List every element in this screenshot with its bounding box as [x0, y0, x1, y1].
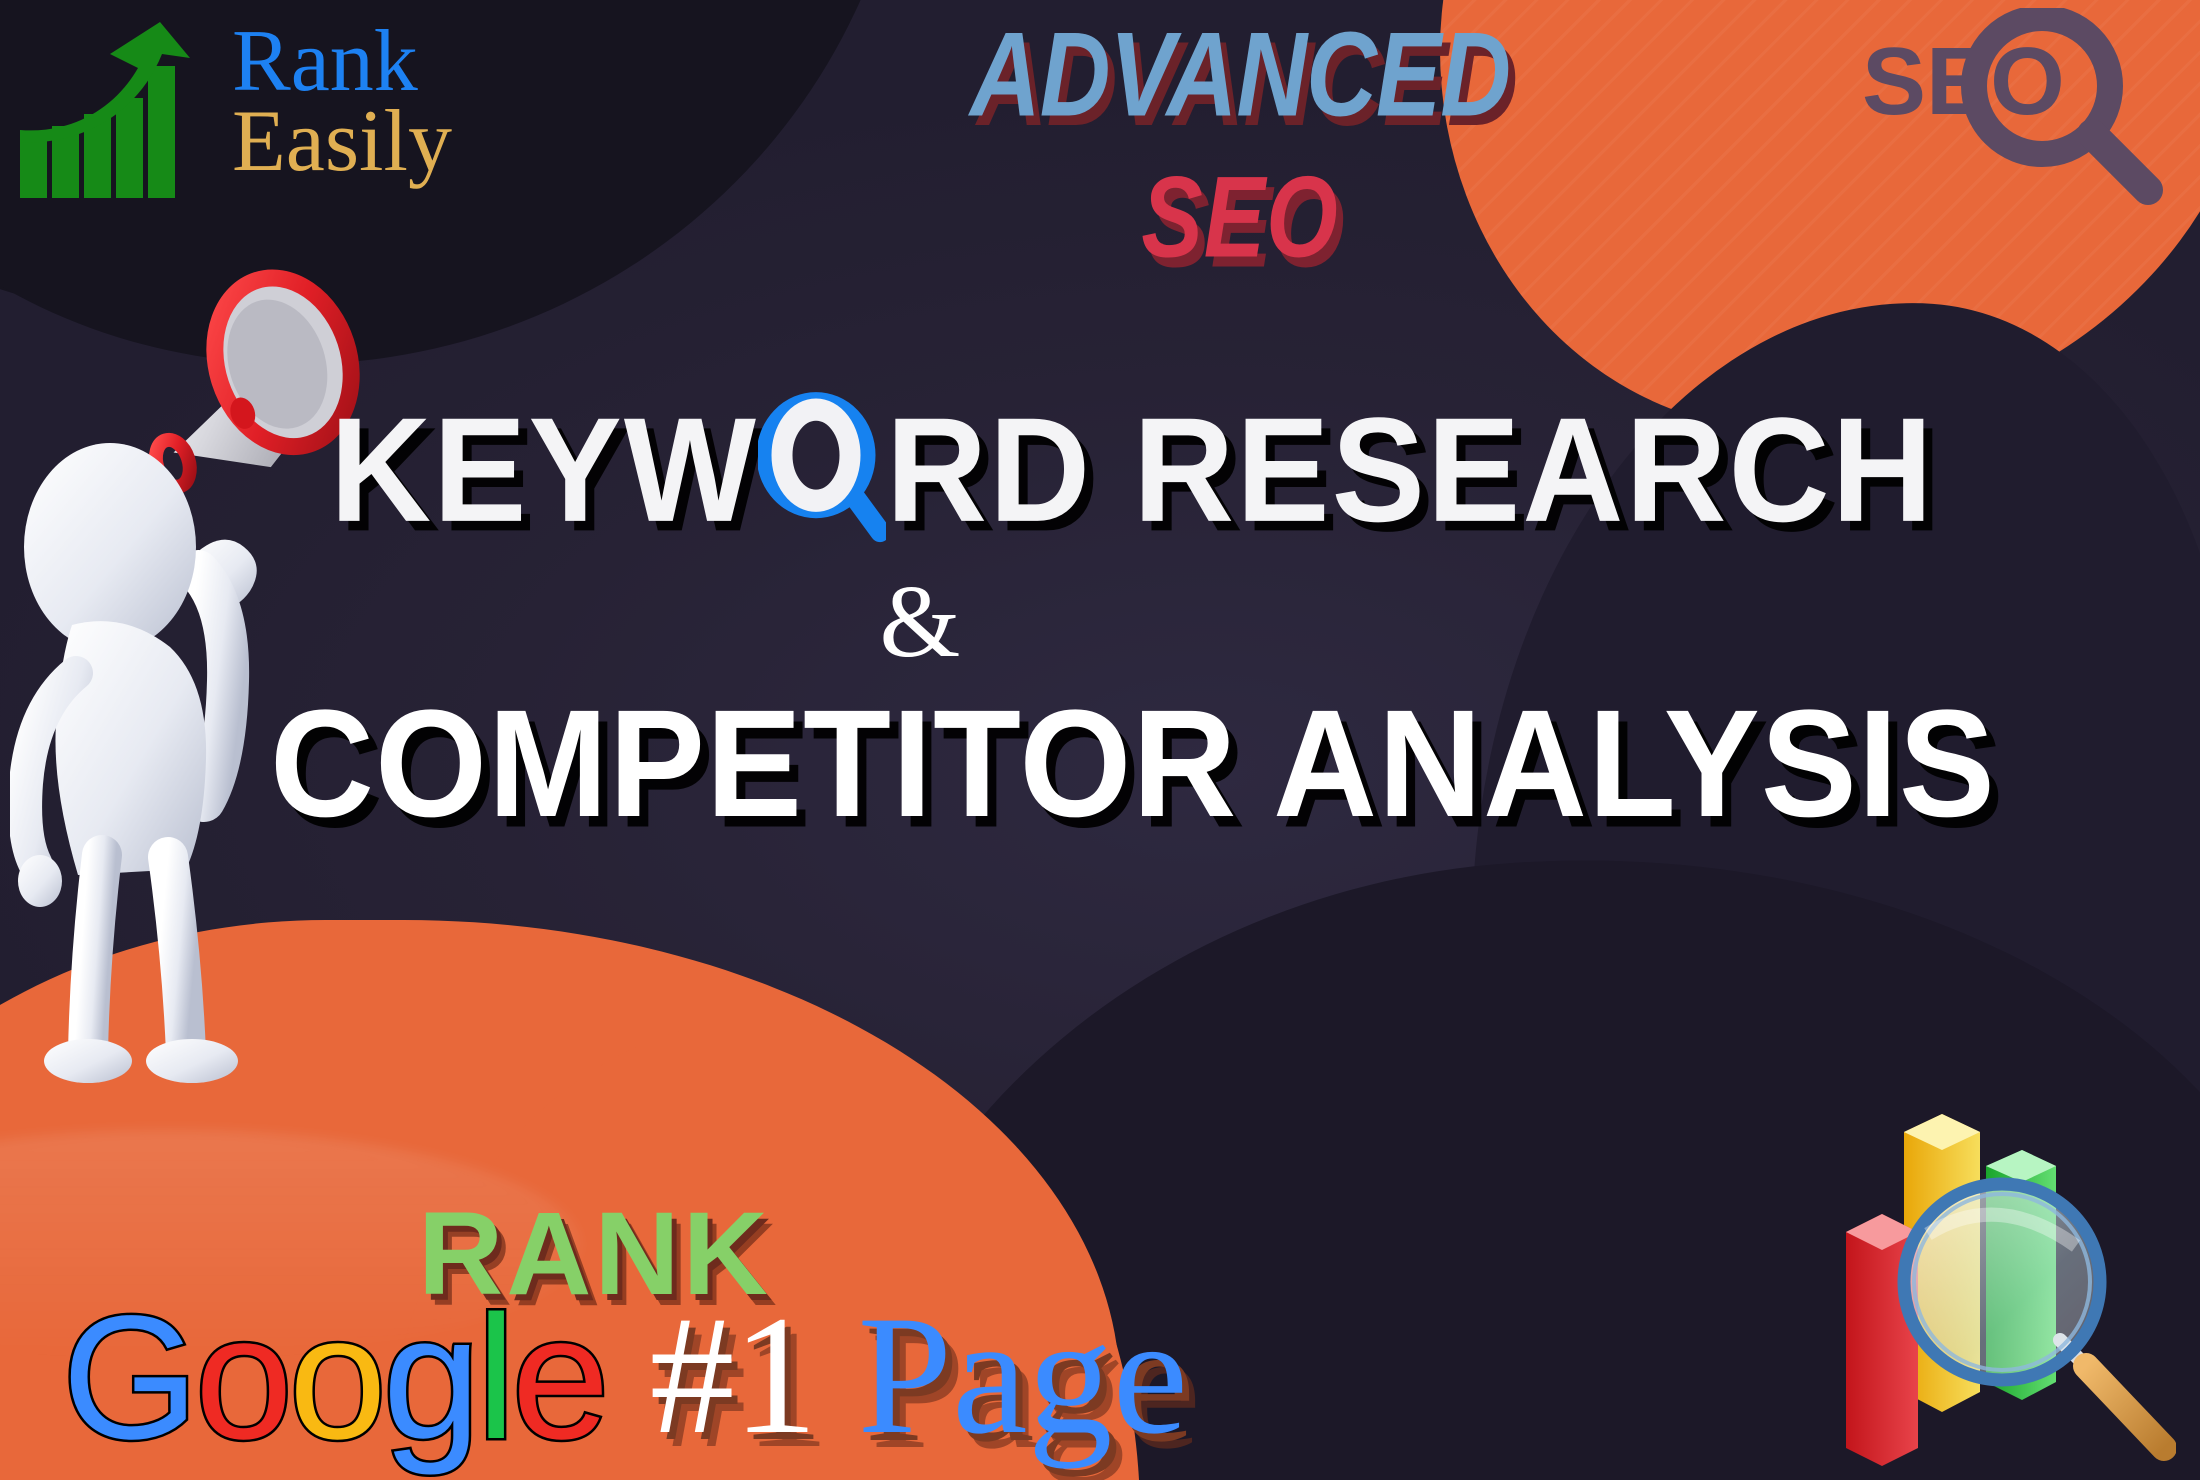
- google-letter-o2: o: [289, 1280, 383, 1476]
- google-wordmark: Google: [62, 1290, 606, 1466]
- headline-line-1: KEYW RD RESEARCH: [330, 396, 2120, 544]
- headline-line-2: COMPETITOR ANALYSIS: [270, 688, 2060, 841]
- seo-badge-text: SEO: [1862, 28, 2065, 135]
- headline-ampersand: &: [330, 570, 1510, 674]
- magnifier-o-icon: [758, 396, 886, 544]
- hash-one-label: #1: [650, 1290, 816, 1460]
- headline-line1-part-a: KEYW: [330, 396, 758, 544]
- google-letter-o1: o: [195, 1280, 289, 1476]
- brand-logo-text: Rank Easily: [232, 20, 452, 183]
- google-letter-l: l: [477, 1280, 512, 1476]
- google-letter-g2: g: [383, 1280, 477, 1476]
- growth-arrow-bars-icon: [10, 6, 240, 206]
- brand-logo-line1: Rank: [232, 20, 452, 104]
- advanced-seo-badge: ADVANCED SEO: [920, 14, 1560, 252]
- headline-line1-part-b: RD RESEARCH: [886, 396, 1935, 544]
- brand-logo-line2: Easily: [232, 100, 452, 184]
- main-headline: KEYW RD RESEARCH & COMPETITOR ANALYSIS: [330, 400, 2120, 836]
- 3d-bar-chart-magnifier-icon: [1846, 1092, 2176, 1472]
- brand-logo[interactable]: Rank Easily: [10, 6, 540, 216]
- seo-service-banner: Rank Easily ADVANCED SEO SEO: [0, 0, 2200, 1480]
- advanced-label: ADVANCED: [920, 14, 1560, 134]
- google-letter-e: e: [512, 1280, 606, 1476]
- seo-magnifier-badge: SEO: [1836, 8, 2166, 208]
- google-letter-g1: G: [62, 1280, 195, 1476]
- page-label: Page: [858, 1290, 1188, 1460]
- seo-label: SEO: [920, 160, 1560, 275]
- google-first-page-line: Google #1 Page: [62, 1290, 1188, 1466]
